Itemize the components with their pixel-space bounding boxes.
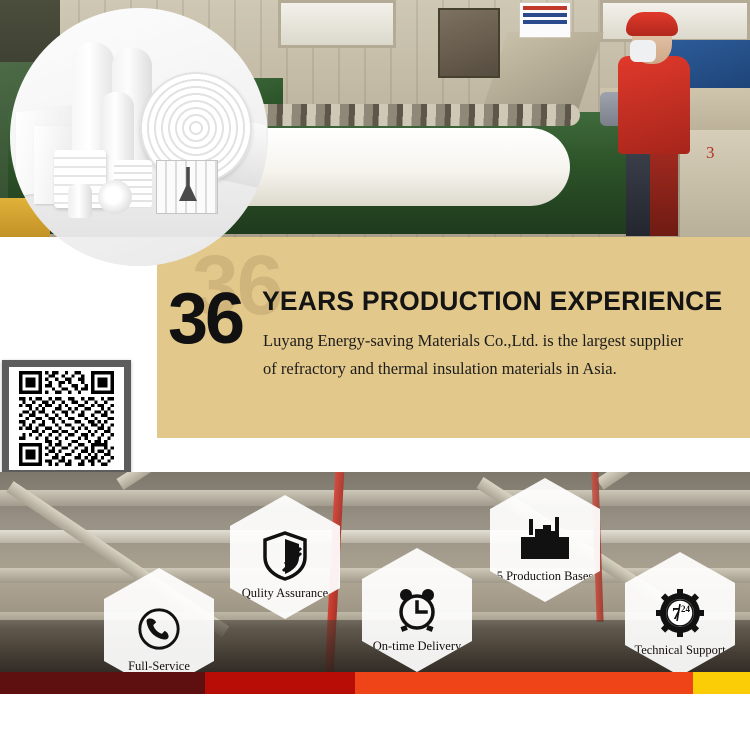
control-panel-box [438,8,500,78]
qr-code-image[interactable] [9,367,124,470]
color-stripe [0,672,750,694]
feature-label: On-time Delivery [373,640,462,654]
feature-label: Qulity Assurance [242,587,328,601]
worker-red-cap [626,12,678,36]
stripe-segment-0 [0,672,205,694]
stripe-segment-2 [355,672,693,694]
alarm-clock-icon [393,582,441,636]
safety-poster [519,2,571,38]
feature-label: 5 Production Bases [497,570,594,584]
stripe-segment-3 [693,672,750,694]
factory-window [278,0,396,48]
factory-icon [519,512,571,566]
product-showcase-circle [10,8,268,266]
white-footer [0,694,750,750]
worker-face-mask [630,40,656,62]
module-anchor-assembly [156,160,218,214]
description-text: Luyang Energy-saving Materials Co.,Ltd. … [263,327,693,383]
fiber-cylinder [68,184,92,218]
years-number: 36 [168,283,242,355]
phone-icon [136,602,182,656]
worker-shirt [618,56,690,154]
qr-code-svg [13,371,120,466]
headline-text: YEARS PRODUCTION EXPERIENCE [262,286,722,317]
fiber-disc [98,180,132,214]
stripe-segment-1 [205,672,355,694]
shield-icon [261,529,309,583]
gear-724-icon: 7 24 [656,586,704,640]
worker-trousers [650,148,678,236]
feature-label: Technical Support [634,644,725,658]
machine-number-label: 3 [706,143,715,163]
gear-denominator: 24 [681,604,691,614]
promo-banner: 3 36 36 YEARS PRODUCTION EXPERI [0,0,750,750]
